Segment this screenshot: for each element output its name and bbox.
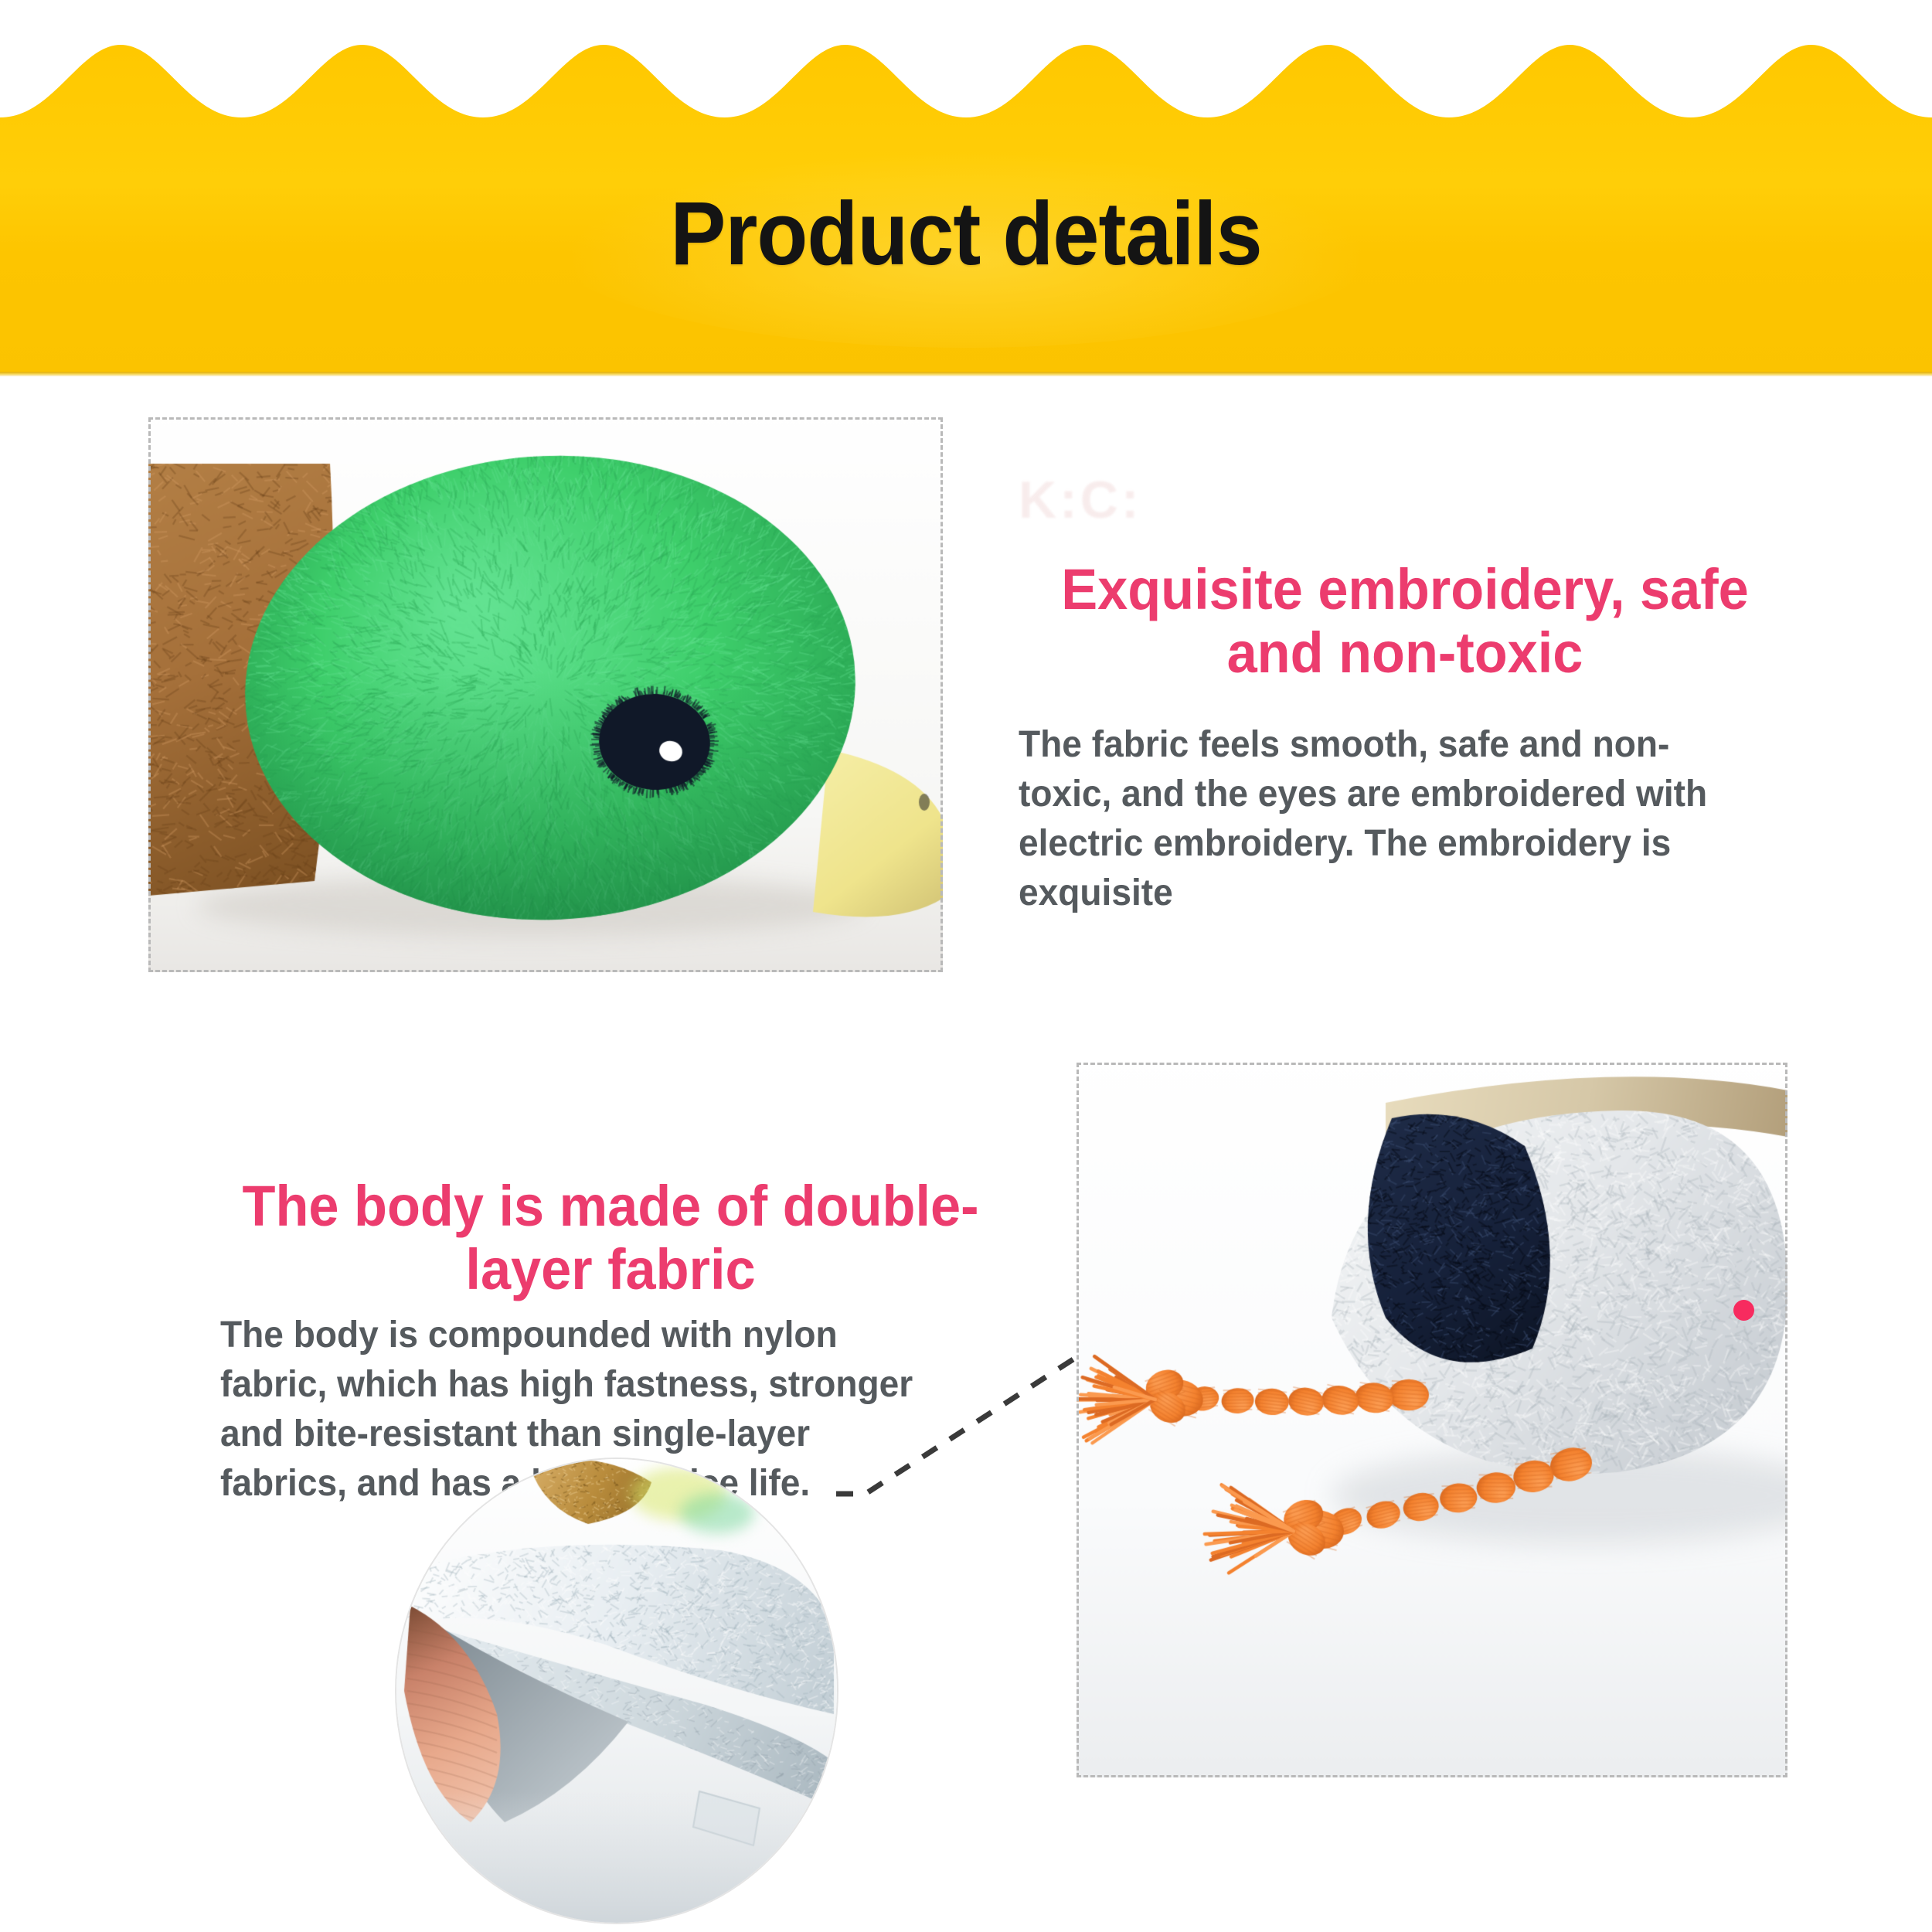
embroidery-heading: Exquisite embroidery, safe and non-toxic — [1038, 558, 1772, 685]
embroidery-text-block: Exquisite embroidery, safe and non-toxic… — [1019, 464, 1791, 918]
embroidery-body-text: The fabric feels smooth, safe and non-to… — [1019, 720, 1753, 918]
marker-dot — [1733, 1300, 1754, 1321]
fabric-inset-canvas — [396, 1459, 837, 1923]
fabric-layer-inset-photo — [396, 1459, 837, 1923]
page-title: Product details — [68, 179, 1865, 287]
gray-duck-body-canvas — [1077, 1063, 1787, 1777]
double-layer-heading: The body is made of double-layer fabric — [240, 1175, 981, 1301]
green-duck-head-canvas — [148, 417, 943, 972]
banner-underline — [0, 372, 1932, 376]
header-banner: Product details — [0, 0, 1932, 376]
gray-duck-body-photo — [1077, 1063, 1787, 1777]
green-duck-head-photo — [148, 417, 943, 972]
